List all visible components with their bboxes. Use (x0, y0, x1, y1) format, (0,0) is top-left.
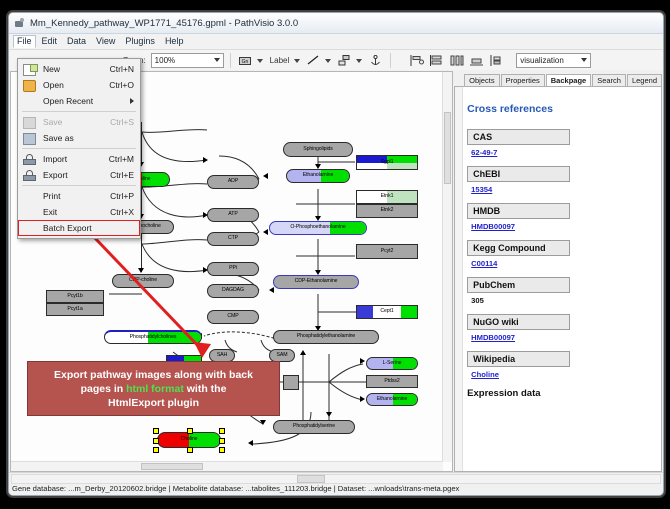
zoom-combo[interactable]: 100% (151, 53, 224, 68)
chevron-down-icon-2 (581, 58, 587, 62)
xref-header-hmdb: HMDB (467, 203, 570, 219)
selection-handle-w[interactable] (153, 438, 159, 444)
node-cdp-ethanolamine[interactable]: CDP-Ethanolamine (273, 275, 359, 289)
group-icon[interactable] (468, 52, 485, 69)
node-ppi[interactable]: PPi (207, 262, 259, 276)
node-atp[interactable]: ATP (207, 208, 259, 222)
menu-item-save-shortcut: Ctrl+S (110, 117, 134, 127)
menu-separator-2 (22, 148, 136, 149)
node-phosphatidylethanolamine[interactable]: Phosphatidylethanolamine (273, 330, 379, 344)
selection-handle-e[interactable] (219, 438, 225, 444)
xref-header-cas: CAS (467, 129, 570, 145)
anchor-block[interactable] (283, 375, 299, 390)
arrowhead-choline-sel (248, 440, 253, 446)
edge-cdpcholine-pc (141, 234, 142, 272)
callout-line-1: Export pathway images along with back (54, 368, 253, 382)
menu-data[interactable]: Data (63, 35, 90, 48)
menu-item-exit-shortcut: Ctrl+X (110, 207, 134, 217)
callout-highlight: html format (126, 383, 184, 395)
side-panel-tabs: Objects Properties Backpage Search Legen… (454, 71, 662, 86)
visualization-value: visualization (520, 56, 564, 65)
node-ctp[interactable]: CTP (207, 232, 259, 246)
node-cdp-choline[interactable]: CDP-choline (112, 274, 174, 288)
chevron-down-icon (214, 58, 220, 62)
menu-item-import-label: Import (43, 154, 67, 164)
toolbar-divider-2 (390, 53, 391, 68)
file-menu-popup[interactable]: New Ctrl+N Open Ctrl+O Open Recent Save … (17, 58, 141, 239)
node-cept1[interactable]: Cept1 (356, 305, 418, 319)
menu-item-new-label: New (43, 64, 60, 74)
xref-value-pubchem: 305 (467, 296, 649, 305)
xref-header-kegg: Kegg Compound (467, 240, 570, 256)
xref-header-chebi: ChEBI (467, 166, 570, 182)
distribute-icon[interactable] (448, 52, 465, 69)
menu-item-exit[interactable]: Exit Ctrl+X (18, 204, 140, 220)
callout-line-2b: with the (184, 383, 227, 395)
menu-item-save: Save Ctrl+S (18, 114, 140, 130)
new-document-icon (23, 64, 36, 76)
side-panel-scrollbar[interactable] (455, 87, 463, 471)
menu-item-export-label: Export (43, 170, 68, 180)
xref-value-kegg[interactable]: C00114 (467, 259, 649, 268)
title-bar: Mm_Kennedy_pathway_WP1771_45176.gpml - P… (9, 13, 663, 34)
menu-item-new[interactable]: New Ctrl+N (18, 61, 140, 77)
canvas-vertical-scrollbar[interactable] (442, 72, 452, 462)
import-icon (23, 154, 34, 164)
menu-item-save-label: Save (43, 117, 62, 127)
arrowhead-ps-pe (300, 350, 306, 355)
menu-item-print-shortcut: Ctrl+P (110, 191, 134, 201)
arrowhead-atp-r (263, 173, 268, 179)
selection-handle-sw[interactable] (153, 447, 159, 453)
line-tool-icon[interactable] (305, 52, 322, 69)
canvas-horizontal-scrollbar[interactable] (11, 461, 443, 471)
menu-item-exit-label: Exit (43, 207, 57, 217)
status-scroll-thumb[interactable] (297, 475, 325, 483)
menu-item-open-recent[interactable]: Open Recent (18, 93, 140, 109)
selection-handle-s[interactable] (187, 447, 193, 453)
menu-item-import[interactable]: Import Ctrl+M (18, 151, 140, 167)
status-text: Gene database: ...m_Derby_20120602.bridg… (12, 484, 459, 493)
node-pcyt2[interactable]: Pcyt2 (356, 244, 418, 259)
edge-choline-phosphocholine (141, 122, 142, 164)
align-icon[interactable] (408, 52, 425, 69)
toolbar-divider (230, 53, 231, 68)
selection-handle-ne[interactable] (219, 428, 225, 434)
status-bar: Gene database: ...m_Derby_20120602.bridg… (9, 472, 663, 495)
label-dropdown-icon[interactable] (294, 59, 300, 63)
application-window: Mm_Kennedy_pathway_WP1771_45176.gpml - P… (8, 12, 664, 496)
menu-item-open[interactable]: Open Ctrl+O (18, 77, 140, 93)
arrowhead-pe-ps (326, 412, 332, 417)
annotation-callout: Export pathway images along with back pa… (27, 361, 280, 416)
menu-item-open-shortcut: Ctrl+O (109, 80, 134, 90)
menu-view[interactable]: View (92, 35, 119, 48)
order-icon[interactable] (488, 52, 505, 69)
arrowhead-cmp-r (269, 287, 274, 293)
menu-item-open-label: Open (43, 80, 64, 90)
cross-references-heading: Cross references (467, 103, 649, 115)
cept1-green (401, 306, 417, 318)
menu-item-print-label: Print (43, 191, 60, 201)
menu-separator-3 (22, 185, 136, 186)
canvas-hscroll-thumb[interactable] (141, 463, 203, 470)
selection-handle-se[interactable] (219, 447, 225, 453)
node-choline-selected[interactable]: Choline (157, 432, 221, 448)
node-ptdss2[interactable]: Ptdss2 (366, 375, 418, 388)
arrowhead-atp (203, 157, 208, 163)
window-title: Mm_Kennedy_pathway_WP1771_45176.gpml - P… (30, 18, 298, 29)
cept1-blue (357, 306, 373, 318)
open-folder-icon (23, 80, 36, 92)
node-pcyt1a[interactable]: Pcyt1a (46, 303, 104, 316)
pathvisio-icon (14, 18, 25, 29)
node-sphingolipids[interactable]: Sphingolipids (283, 142, 353, 157)
tab-legend[interactable]: Legend (627, 74, 662, 86)
menu-item-batch-export[interactable]: Batch Export (18, 220, 140, 236)
menu-file[interactable]: File (13, 35, 36, 48)
xref-header-nugo: NuGO wiki (467, 314, 570, 330)
menu-bar: File Edit Data View Plugins Help (9, 34, 663, 50)
xref-value-wikipedia[interactable]: Choline (467, 370, 649, 379)
side-panel: Objects Properties Backpage Search Legen… (454, 71, 662, 472)
label-tool-label[interactable]: Label (270, 56, 290, 65)
callout-line-2a: pages in (81, 383, 127, 395)
arrowhead-ppi-r (263, 229, 268, 235)
line-dropdown-icon[interactable] (325, 59, 331, 63)
tab-objects[interactable]: Objects (464, 74, 499, 86)
backpage-content: Cross references CAS 62-49-7 ChEBI 15354… (454, 86, 662, 472)
menu-edit[interactable]: Edit (38, 35, 62, 48)
xref-header-pubchem: PubChem (467, 277, 570, 293)
node-l-serine[interactable]: L-Serine (366, 357, 418, 370)
zoom-value: 100% (155, 56, 175, 65)
shape-tool-icon[interactable] (336, 52, 353, 69)
menu-item-print[interactable]: Print Ctrl+P (18, 188, 140, 204)
node-phosphatidylserine[interactable]: Phosphatidylserine (273, 420, 355, 434)
submenu-arrow-icon (130, 98, 134, 104)
visualization-combo[interactable]: visualization (516, 53, 591, 68)
callout-line-2: pages in html format with the (81, 382, 227, 396)
node-pcyt1b[interactable]: Pcyt1b (46, 290, 104, 303)
menu-separator-1 (22, 111, 136, 112)
arrowhead-pc-ps (260, 420, 266, 425)
xref-value-nugo[interactable]: HMDB00097 (467, 333, 649, 342)
xref-value-chebi[interactable]: 15354 (467, 185, 649, 194)
xref-value-cas[interactable]: 62-49-7 (467, 148, 649, 157)
node-ethanolamine-bottom[interactable]: Ethanolamine (366, 393, 418, 406)
svg-text:Gn: Gn (242, 59, 249, 65)
menu-item-new-shortcut: Ctrl+N (110, 64, 134, 74)
datanode-dropdown-icon[interactable] (257, 59, 263, 63)
export-icon (23, 170, 34, 180)
menu-item-export[interactable]: Export Ctrl+E (18, 167, 140, 183)
expression-data-heading: Expression data (467, 388, 649, 399)
menu-item-save-as-label: Save as (43, 133, 74, 143)
anchor-tool-icon[interactable] (367, 52, 384, 69)
menu-item-batch-export-label: Batch Export (43, 223, 92, 233)
arrowhead-ethanolamine-b (360, 396, 365, 402)
tab-search[interactable]: Search (592, 74, 626, 86)
save-as-disk-icon (23, 133, 36, 145)
screenshot-root: Mm_Kennedy_pathway_WP1771_45176.gpml - P… (0, 0, 670, 509)
arrowhead-lserine (360, 358, 365, 364)
node-adp[interactable]: ADP (207, 175, 259, 189)
tab-properties[interactable]: Properties (501, 74, 545, 86)
xref-value-hmdb[interactable]: HMDB00097 (467, 222, 649, 231)
arrowhead-3 (138, 268, 144, 273)
menu-item-export-shortcut: Ctrl+E (110, 170, 134, 180)
save-disk-icon (23, 117, 36, 129)
node-sgpl1[interactable]: Sgpl1 (356, 155, 418, 170)
node-ethanolamine-top[interactable]: Ethanolamine (286, 169, 350, 183)
node-choline-selected-group[interactable]: Choline (157, 432, 221, 448)
node-phosphatidylcholines[interactable]: Phosphatidylcholines (104, 330, 202, 344)
menu-plugins[interactable]: Plugins (121, 35, 159, 48)
selection-handle-n[interactable] (187, 428, 193, 434)
shape-dropdown-icon[interactable] (356, 59, 362, 63)
xref-header-wikipedia: Wikipedia (467, 351, 570, 367)
selection-handle-nw[interactable] (153, 428, 159, 434)
stack-icon[interactable] (428, 52, 445, 69)
datanode-icon[interactable]: Gn (237, 52, 254, 69)
node-cmp[interactable]: CMP (207, 310, 259, 324)
menu-item-import-shortcut: Ctrl+M (109, 154, 134, 164)
node-dagdag[interactable]: DAGDAG (207, 284, 259, 298)
callout-line-3: HtmlExport plugin (108, 396, 199, 410)
menu-item-open-recent-label: Open Recent (43, 96, 93, 106)
status-scrollbar[interactable] (11, 474, 661, 484)
menu-item-save-as[interactable]: Save as (18, 130, 140, 146)
node-etnk2[interactable]: Etnk2 (356, 204, 418, 218)
menu-help[interactable]: Help (161, 35, 188, 48)
node-etnk1[interactable]: Etnk1 (356, 190, 418, 204)
canvas-vscroll-thumb[interactable] (444, 112, 451, 184)
node-o-phosphoethanolamine[interactable]: O-Phosphoethanolamine (269, 221, 367, 235)
